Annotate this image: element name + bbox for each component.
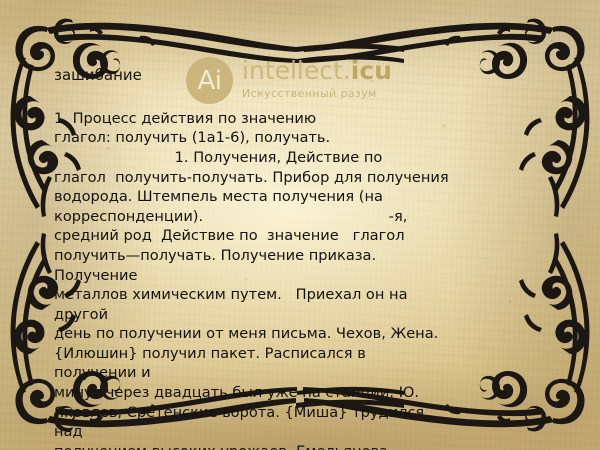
headword: зашибание <box>54 66 554 85</box>
definition-body: 1. Процесс действия по значению глагол: … <box>54 109 452 450</box>
article-content: зашибание 1. Процесс действия по значени… <box>54 66 554 450</box>
parchment-page: Ai intellect.icu Искусственный разум заш… <box>0 0 600 450</box>
